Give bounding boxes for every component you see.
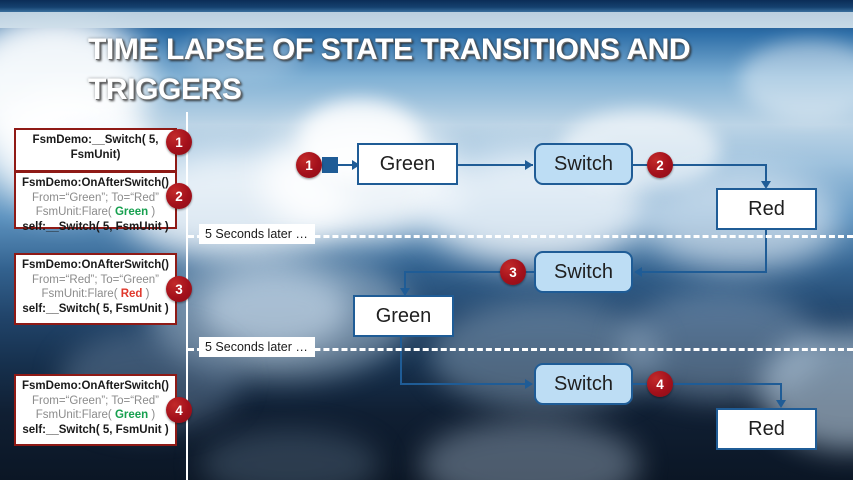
code-line: FsmDemo:__Switch( 5, <box>20 133 171 148</box>
connector-red1-switch2-h <box>640 271 767 273</box>
code-line: FsmUnit:Flare( Green ) <box>20 408 171 423</box>
badge-4-flow: 4 <box>647 371 673 397</box>
code-line-suffix: ) <box>148 206 155 218</box>
code-box-1: FsmDemo:__Switch( 5,FsmUnit) <box>14 128 177 172</box>
code-accent-token: Red <box>121 288 143 300</box>
arrowhead-red1-switch2 <box>634 267 642 277</box>
code-box-2: FsmDemo:OnAfterSwitch()From=“Green”; To=… <box>14 171 177 229</box>
badge-1-left: 1 <box>166 129 192 155</box>
code-line: FsmDemo:OnAfterSwitch() <box>20 379 171 394</box>
top-accent-band <box>0 0 853 12</box>
code-accent-token: Green <box>115 206 148 218</box>
node-switch-2: Switch <box>534 251 633 293</box>
code-line-text: FsmUnit:Flare( <box>36 409 115 421</box>
code-box-3: FsmDemo:OnAfterSwitch()From=“Red”; To=“G… <box>14 253 177 325</box>
top-light-band <box>0 12 853 28</box>
code-line: FsmDemo:OnAfterSwitch() <box>20 258 171 273</box>
code-line: From=“Green”; To=“Red” <box>20 394 171 409</box>
node-green-2: Green <box>353 295 454 337</box>
badge-3-left: 3 <box>166 276 192 302</box>
badge-2-flow: 2 <box>647 152 673 178</box>
arrowhead-green2-switch3 <box>525 379 533 389</box>
code-line-suffix: ) <box>142 288 149 300</box>
code-line: self:__Switch( 5, FsmUnit ) <box>20 302 171 317</box>
code-line-text: FsmUnit:Flare( <box>42 288 121 300</box>
node-switch-1: Switch <box>534 143 633 185</box>
time-separator-label-1: 5 Seconds later … <box>199 224 315 244</box>
code-line: From=“Red”; To=“Green” <box>20 273 171 288</box>
code-line-suffix: ) <box>148 409 155 421</box>
time-separator-label-2: 5 Seconds later … <box>199 337 315 357</box>
connector-green1-switch1 <box>458 164 533 166</box>
code-line: self:__Switch( 5, FsmUnit ) <box>20 220 171 235</box>
arrowhead-green1-switch1 <box>525 160 533 170</box>
page-title: TIME LAPSE OF STATE TRANSITIONS AND TRIG… <box>88 30 788 109</box>
code-line: FsmDemo:OnAfterSwitch() <box>20 176 171 191</box>
node-switch-3: Switch <box>534 363 633 405</box>
badge-3-flow: 3 <box>500 259 526 285</box>
node-red-2: Red <box>716 408 817 450</box>
connector-green2-switch3-v <box>400 337 402 384</box>
connector-green2-switch3-h <box>400 383 528 385</box>
code-line-text: FsmUnit:Flare( <box>36 206 115 218</box>
code-box-4: FsmDemo:OnAfterSwitch()From=“Green”; To=… <box>14 374 177 446</box>
badge-1-flow: 1 <box>296 152 322 178</box>
code-line: FsmUnit) <box>20 148 171 163</box>
code-accent-token: Green <box>115 409 148 421</box>
code-line: self:__Switch( 5, FsmUnit ) <box>20 423 171 438</box>
start-marker <box>322 157 338 173</box>
badge-2-left: 2 <box>166 183 192 209</box>
node-green-1: Green <box>357 143 458 185</box>
code-line: FsmUnit:Flare( Green ) <box>20 205 171 220</box>
code-line: FsmUnit:Flare( Red ) <box>20 287 171 302</box>
node-red-1: Red <box>716 188 817 230</box>
code-line: From=“Green”; To=“Red” <box>20 191 171 206</box>
slide-canvas: TIME LAPSE OF STATE TRANSITIONS AND TRIG… <box>0 0 853 480</box>
arrowhead-switch3-red2 <box>776 400 786 408</box>
badge-4-left: 4 <box>166 397 192 423</box>
